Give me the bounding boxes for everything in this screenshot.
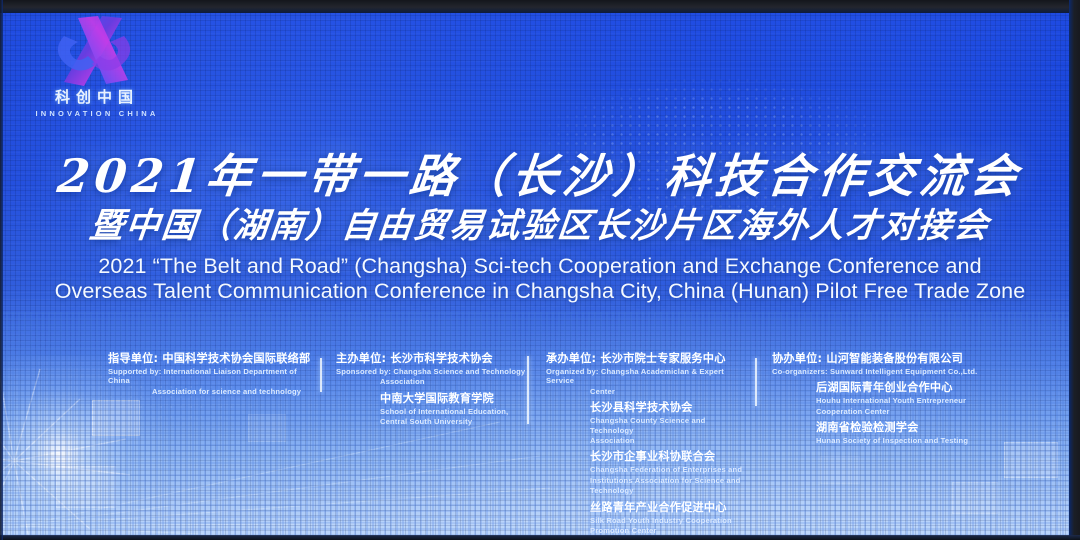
- innovation-china-ribbon-icon: [44, 12, 144, 90]
- organizer-name-en-line2: Central South University: [336, 417, 526, 426]
- organizer-name-en-line2: Association: [546, 436, 744, 445]
- organizer-name-en-line2: Institutions Association for Science and: [546, 476, 744, 485]
- organizer-role-en-line1: Co-organizers: Sunward Intelligent Equip…: [772, 367, 982, 376]
- organizer-group: 丝路青年产业合作促进中心 Silk Road Youth Industry Co…: [546, 501, 744, 536]
- organizer-role-en-line1: Supported by: International Liaison Depa…: [108, 367, 313, 386]
- organizer-name-en-line1: Changsha Federation of Enterprises and: [546, 465, 744, 474]
- organizer-name-cn: 长沙市企事业科协联合会: [546, 450, 744, 464]
- title-chinese-line1: 2021年一带一路（长沙）科技合作交流会: [0, 140, 1080, 206]
- photo-frame-top: [0, 0, 1080, 13]
- title-chinese-line2: 暨中国（湖南）自由贸易试验区长沙片区海外人才对接会: [0, 198, 1080, 247]
- organizer-column-supported-by: 指导单位: 中国科学技术协会国际联络部 Supported by: Intern…: [108, 352, 313, 401]
- organizer-name-en-line1: Changsha County Science and Technology: [546, 416, 744, 435]
- organizers-section: 指导单位: 中国科学技术协会国际联络部 Supported by: Intern…: [0, 352, 1072, 502]
- organizer-name-en-line1: School of International Education,: [336, 407, 526, 416]
- organizer-role-en-line2: Association: [336, 377, 526, 386]
- organizer-role-cn: 协办单位: 山河智能装备股份有限公司: [772, 352, 982, 366]
- organizer-name-cn: 后湖国际青年创业合作中心: [772, 381, 982, 395]
- organizer-name-cn: 湖南省检验检测学会: [772, 421, 982, 435]
- photo-frame-left: [0, 0, 3, 540]
- organizer-role-en-line1: Organized by: Changsha Academiclan & Exp…: [546, 367, 744, 386]
- organizer-name-cn: 丝路青年产业合作促进中心: [546, 501, 744, 515]
- organizer-name-en-line3: Technology: [546, 486, 744, 495]
- led-screen-photo: 科创中国 INNOVATION CHINA 2021年一带一路（长沙）科技合作交…: [0, 0, 1080, 540]
- organizer-name-en-line1: Houhu International Youth Entrepreneur: [772, 396, 982, 405]
- organizer-name-en-line2: Cooperation Center: [772, 407, 982, 416]
- title-english-line1: 2021 “The Belt and Road” (Changsha) Sci-…: [50, 254, 1030, 279]
- organizer-group: 长沙县科学技术协会 Changsha County Science and Te…: [546, 401, 744, 445]
- title-english: 2021 “The Belt and Road” (Changsha) Sci-…: [50, 254, 1030, 304]
- organizer-role-en-line1: Sponsored by: Changsha Science and Techn…: [336, 367, 526, 376]
- organizer-name-en-line1: Silk Road Youth Industry Cooperation: [546, 516, 744, 525]
- photo-frame-right: [1069, 0, 1080, 540]
- photo-frame-bottom: [0, 535, 1080, 540]
- logo-chinese-text: 科创中国: [22, 86, 172, 107]
- column-divider: [320, 358, 322, 392]
- organizer-role-cn: 主办单位: 长沙市科学技术协会: [336, 352, 526, 366]
- organizer-name-en-line1: Hunan Society of Inspection and Testing: [772, 436, 982, 445]
- organizer-role-cn: 指导单位: 中国科学技术协会国际联络部: [108, 352, 313, 366]
- organizer-role-en-line2: Center: [546, 387, 744, 396]
- organizer-role-cn: 承办单位: 长沙市院士专家服务中心: [546, 352, 744, 366]
- organizer-group: 主办单位: 长沙市科学技术协会 Sponsored by: Changsha S…: [336, 352, 526, 387]
- organizer-name-cn: 长沙县科学技术协会: [546, 401, 744, 415]
- organizer-name-cn: 中南大学国际教育学院: [336, 392, 526, 406]
- organizer-group: 协办单位: 山河智能装备股份有限公司 Co-organizers: Sunwar…: [772, 352, 982, 376]
- column-divider: [527, 356, 529, 424]
- organizer-column-co-organizers: 协办单位: 山河智能装备股份有限公司 Co-organizers: Sunwar…: [772, 352, 982, 451]
- organizer-column-sponsored-by: 主办单位: 长沙市科学技术协会 Sponsored by: Changsha S…: [336, 352, 526, 432]
- logo-english-text: INNOVATION CHINA: [22, 109, 172, 118]
- organizer-role-en-line2: Association for science and technology: [108, 387, 313, 396]
- column-divider: [755, 358, 757, 406]
- organizer-group: 后湖国际青年创业合作中心 Houhu International Youth E…: [772, 381, 982, 416]
- organizer-group: 中南大学国际教育学院 School of International Educa…: [336, 392, 526, 427]
- innovation-china-logo: 科创中国 INNOVATION CHINA: [22, 12, 172, 118]
- title-english-line2: Overseas Talent Communication Conference…: [50, 279, 1030, 304]
- organizer-group: 湖南省检验检测学会 Hunan Society of Inspection an…: [772, 421, 982, 445]
- organizer-group: 长沙市企事业科协联合会 Changsha Federation of Enter…: [546, 450, 744, 495]
- organizer-group: 指导单位: 中国科学技术协会国际联络部 Supported by: Intern…: [108, 352, 313, 396]
- organizer-column-organized-by: 承办单位: 长沙市院士专家服务中心 Organized by: Changsha…: [546, 352, 744, 540]
- poster-content: 科创中国 INNOVATION CHINA 2021年一带一路（长沙）科技合作交…: [0, 0, 1080, 540]
- organizer-group: 承办单位: 长沙市院士专家服务中心 Organized by: Changsha…: [546, 352, 744, 396]
